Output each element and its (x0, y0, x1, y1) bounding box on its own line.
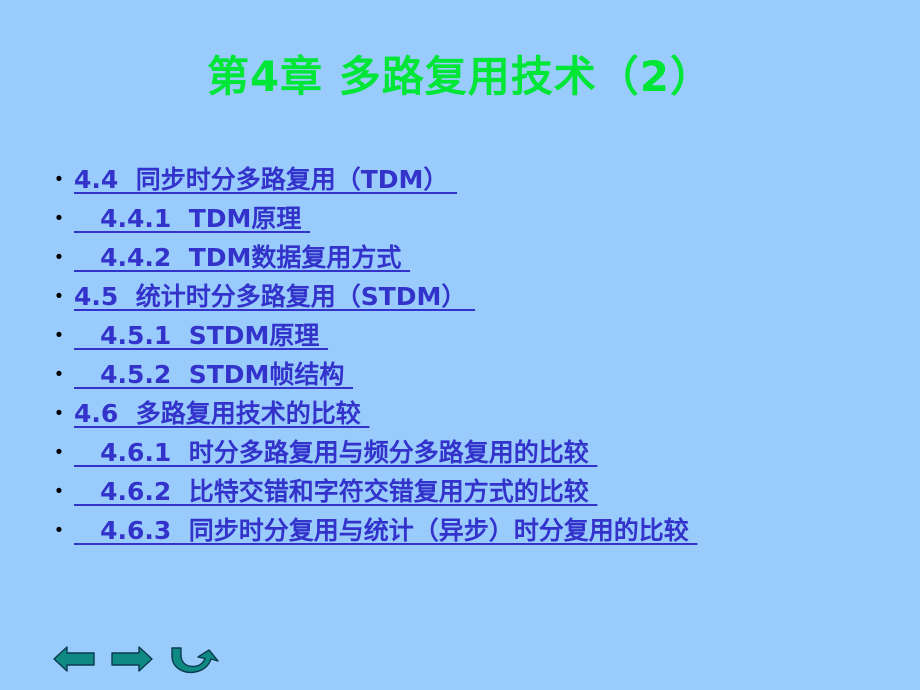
outline-entry-4-6-2[interactable]: 4.6.2 比特交错和字符交错复用方式的比较 (74, 472, 597, 511)
bullet-marker-icon: • (44, 277, 74, 316)
list-item[interactable]: • 4.4.2 TDM数据复用方式 (44, 238, 904, 277)
outline-entry-4-5[interactable]: 4.5 统计时分多路复用（STDM） (74, 277, 475, 316)
list-item[interactable]: • 4.6 多路复用技术的比较 (44, 394, 904, 433)
outline-entry-4-6-3[interactable]: 4.6.3 同步时分复用与统计（异步）时分复用的比较 (74, 511, 697, 550)
outline-entry-4-4-2[interactable]: 4.4.2 TDM数据复用方式 (74, 238, 410, 277)
list-item[interactable]: • 4.6.3 同步时分复用与统计（异步）时分复用的比较 (44, 511, 904, 550)
bullet-marker-icon: • (44, 199, 74, 238)
list-item[interactable]: • 4.5.2 STDM帧结构 (44, 355, 904, 394)
list-item[interactable]: • 4.5 统计时分多路复用（STDM） (44, 277, 904, 316)
return-curved-arrow-icon[interactable] (168, 642, 230, 676)
bullet-marker-icon: • (44, 355, 74, 394)
outline-entry-4-6[interactable]: 4.6 多路复用技术的比较 (74, 394, 369, 433)
list-item[interactable]: • 4.4 同步时分多路复用（TDM） (44, 160, 904, 199)
outline-entry-4-6-1[interactable]: 4.6.1 时分多路复用与频分多路复用的比较 (74, 433, 597, 472)
bullet-marker-icon: • (44, 160, 74, 199)
outline-entry-4-5-1[interactable]: 4.5.1 STDM原理 (74, 316, 328, 355)
list-item[interactable]: • 4.5.1 STDM原理 (44, 316, 904, 355)
slide-canvas: 第4章 多路复用技术（2） • 4.4 同步时分多路复用（TDM） • 4.4.… (0, 0, 920, 690)
outline-entry-4-5-2[interactable]: 4.5.2 STDM帧结构 (74, 355, 353, 394)
bullet-marker-icon: • (44, 316, 74, 355)
list-item[interactable]: • 4.6.1 时分多路复用与频分多路复用的比较 (44, 433, 904, 472)
list-item[interactable]: • 4.6.2 比特交错和字符交错复用方式的比较 (44, 472, 904, 511)
arrow-right-icon[interactable] (110, 645, 154, 673)
slide-navigation-bar (52, 642, 230, 676)
outline-entry-4-4[interactable]: 4.4 同步时分多路复用（TDM） (74, 160, 457, 199)
bullet-marker-icon: • (44, 394, 74, 433)
bullet-marker-icon: • (44, 511, 74, 550)
bullet-marker-icon: • (44, 472, 74, 511)
outline-bullet-list: • 4.4 同步时分多路复用（TDM） • 4.4.1 TDM原理 • 4.4.… (44, 160, 904, 550)
list-item[interactable]: • 4.4.1 TDM原理 (44, 199, 904, 238)
bullet-marker-icon: • (44, 238, 74, 277)
bullet-marker-icon: • (44, 433, 74, 472)
page-title: 第4章 多路复用技术（2） (0, 54, 920, 100)
outline-entry-4-4-1[interactable]: 4.4.1 TDM原理 (74, 199, 310, 238)
arrow-left-icon[interactable] (52, 645, 96, 673)
